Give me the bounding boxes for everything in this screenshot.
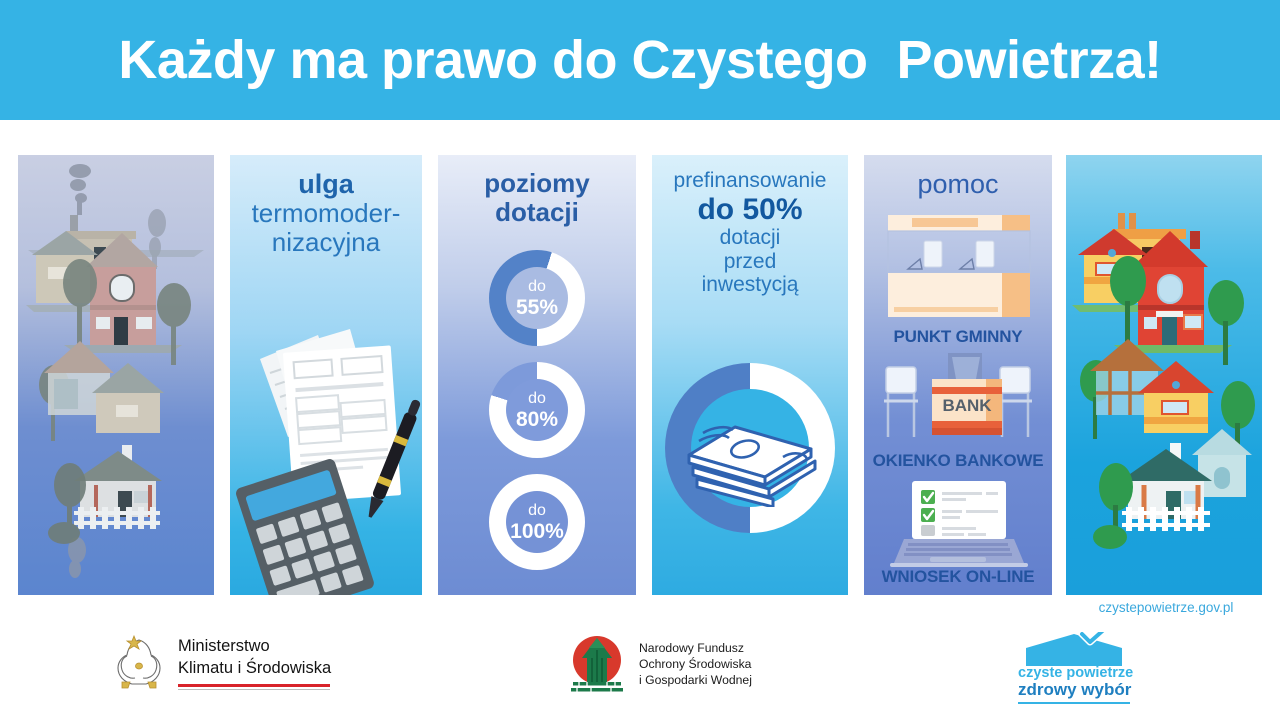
panel-subsidy-heading: poziomy dotacji <box>438 155 636 227</box>
nfosigw-line3: i Gospodarki Wodnej <box>639 672 752 688</box>
nfosigw-text-block: Narodowy Fundusz Ochrony Środowiska i Go… <box>639 640 752 688</box>
donut-chart-100: do 100% <box>489 474 585 570</box>
ministry-red-rule <box>178 684 330 687</box>
bank-counter-illustration: BANK <box>864 353 1052 463</box>
czyste-powietrze-line1: czyste powietrze <box>1018 666 1133 681</box>
caption-okienko-bankowe: OKIENKO BANKOWE <box>864 451 1052 471</box>
prefinancing-line5: inwestycją <box>652 273 848 297</box>
banknote-stack-icon <box>671 397 829 507</box>
polish-eagle-emblem-icon <box>110 632 168 694</box>
panel-help-heading: pomoc <box>864 155 1052 199</box>
nfosigw-line1: Narodowy Fundusz <box>639 640 752 656</box>
panel-thermo-relief: ulga termomoder- nizacyjna <box>230 155 422 595</box>
footer-logos: Ministerstwo Klimatu i Środowiska <box>0 620 1280 720</box>
website-url[interactable]: czystepowietrze.gov.pl <box>1066 600 1266 615</box>
donut-80-value: 80% <box>516 409 558 430</box>
money-donut <box>665 363 835 533</box>
panel-thermo-heading: ulga termomoder- nizacyjna <box>230 155 422 257</box>
panel-prefinancing-heading: prefinansowanie do 50% dotacji przed inw… <box>652 155 848 297</box>
bank-sign-text: BANK <box>942 396 992 415</box>
donut-80-label: do 80% <box>506 379 568 441</box>
municipal-counter-illustration <box>864 207 1052 327</box>
donut-chart-80: do 80% <box>489 362 585 458</box>
prefinancing-line4: przed <box>652 250 848 274</box>
donut-80-prefix: do <box>528 391 546 407</box>
panel-clean-village <box>1066 155 1262 595</box>
donut-100-label: do 100% <box>506 491 568 553</box>
page-title: Każdy ma prawo do Czystego Powietrza! <box>118 29 1161 91</box>
panels-row: ulga termomoder- nizacyjna <box>0 155 1280 595</box>
panel-thermo-title-bold: ulga <box>230 169 422 199</box>
tree-in-red-circle-icon <box>565 634 629 694</box>
prefinancing-amount: do 50% <box>652 193 848 227</box>
online-application-laptop-illustration <box>864 477 1052 577</box>
logo-nfosigw: Narodowy Fundusz Ochrony Środowiska i Go… <box>565 634 752 694</box>
donut-55-value: 55% <box>516 297 558 318</box>
donut-chart-55: do 55% <box>489 250 585 346</box>
prefinancing-line3: dotacji <box>652 226 848 250</box>
caption-punkt-gminny: PUNKT GMINNY <box>864 327 1052 347</box>
clean-village-illustration <box>1066 155 1262 595</box>
panel-polluted-village <box>18 155 214 595</box>
polluted-village-illustration <box>18 155 214 595</box>
donut-55-prefix: do <box>528 279 546 295</box>
ministry-text-block: Ministerstwo Klimatu i Środowiska <box>178 636 331 689</box>
nfosigw-line2: Ochrony Środowiska <box>639 656 752 672</box>
infographic-page: Każdy ma prawo do Czystego Powietrza! <box>0 0 1280 720</box>
czyste-powietrze-line2: zdrowy wybór <box>1018 681 1133 700</box>
header-banner: Każdy ma prawo do Czystego Powietrza! <box>0 0 1280 120</box>
ministry-line1: Ministerstwo <box>178 636 331 657</box>
donut-100-value: 100% <box>510 521 564 542</box>
ministry-grey-rule <box>178 689 330 690</box>
panel-thermo-title-line2: nizacyjna <box>230 228 422 257</box>
panel-subsidy-levels: poziomy dotacji do 55% do 80% do 100% <box>438 155 636 595</box>
ministry-line2: Klimatu i Środowiska <box>178 658 331 679</box>
panel-help-title: pomoc <box>864 169 1052 199</box>
panel-thermo-title-line1: termomoder- <box>230 199 422 228</box>
prefinancing-line1: prefinansowanie <box>652 169 848 193</box>
logo-czyste-powietrze: czyste powietrze zdrowy wybór <box>1018 632 1138 704</box>
logo-ministry: Ministerstwo Klimatu i Środowiska <box>110 632 331 694</box>
blue-house-with-checkmark-icon <box>1018 632 1138 668</box>
panel-subsidy-title-line1: poziomy <box>438 169 636 198</box>
panel-subsidy-title-line2: dotacji <box>438 198 636 227</box>
czyste-powietrze-rule <box>1018 702 1130 704</box>
donut-100-prefix: do <box>528 503 546 519</box>
caption-wniosek-online: WNIOSEK ON-LINE <box>864 567 1052 587</box>
czyste-powietrze-text-block: czyste powietrze zdrowy wybór <box>1018 666 1133 704</box>
panel-help: pomoc PUNKT GMINNY <box>864 155 1052 595</box>
panel-prefinancing: prefinansowanie do 50% dotacji przed inw… <box>652 155 848 595</box>
documents-calculator-illustration <box>230 295 422 595</box>
donut-55-label: do 55% <box>506 267 568 329</box>
